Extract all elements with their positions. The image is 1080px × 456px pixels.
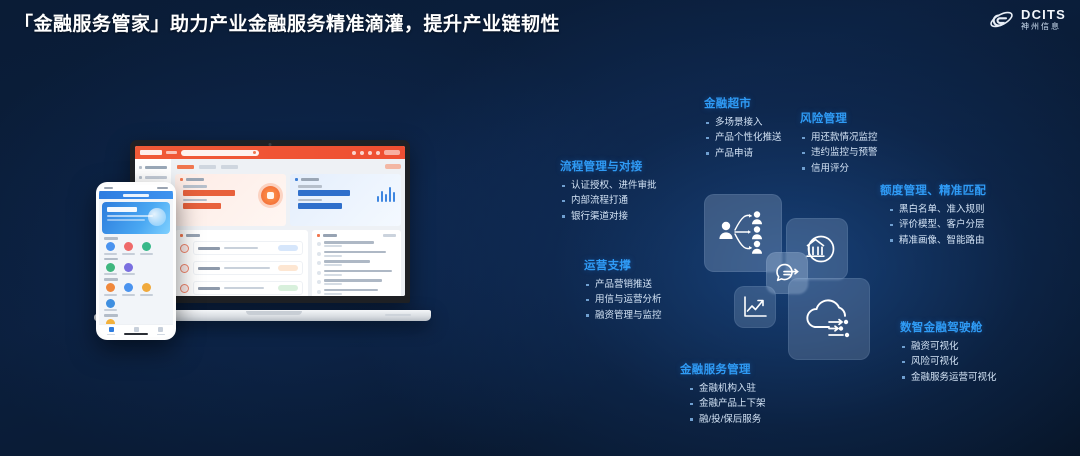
list-item[interactable] xyxy=(317,270,396,276)
app-entry[interactable] xyxy=(139,283,154,296)
list-item: 用还款情况监控 xyxy=(800,130,878,145)
sidebar-item-business[interactable] xyxy=(139,176,167,179)
phone-section-3 xyxy=(103,278,169,311)
block-list: 金融机构入驻 金融产品上下架 融/投/保后服务 xyxy=(680,381,766,427)
tab-order[interactable] xyxy=(221,165,238,169)
block-title: 流程管理与对接 xyxy=(560,158,657,174)
timeline-row[interactable] xyxy=(180,261,303,275)
dashboard-tabs xyxy=(175,162,401,171)
list-item: 精准画像、智能路由 xyxy=(888,233,986,248)
timeline-row[interactable] xyxy=(180,281,303,295)
app-entry[interactable] xyxy=(103,299,118,312)
slide-canvas: 「金融服务管家」助力产业金融服务精准滴灌，提升产业链韧性 DCITS 神州信息 xyxy=(0,0,1080,456)
phone-tabbar xyxy=(99,324,173,337)
tab-product[interactable] xyxy=(199,165,216,169)
app-entry[interactable] xyxy=(121,263,136,276)
list-item: 认证授权、进件审批 xyxy=(560,178,657,193)
app-entry[interactable] xyxy=(103,283,118,296)
block-list: 认证授权、进件审批 内部流程打通 银行渠道对接 xyxy=(560,178,657,224)
block-title: 风险管理 xyxy=(800,110,878,126)
list-item[interactable] xyxy=(317,289,396,295)
tile-cloud-platform xyxy=(788,278,870,360)
tab-home[interactable] xyxy=(99,325,124,337)
list-item: 多场景接入 xyxy=(704,115,782,130)
tab-mine[interactable] xyxy=(148,325,173,337)
list-item[interactable] xyxy=(317,279,396,285)
block-financial-supermarket: 金融超市 多场景接入 产品个性化推送 产品申请 xyxy=(704,95,782,161)
header: 「金融服务管家」助力产业金融服务精准滴灌，提升产业链韧性 DCITS 神州信息 xyxy=(0,0,1080,47)
app-entry[interactable] xyxy=(121,242,136,255)
app-entry[interactable] xyxy=(139,242,154,255)
timeline-row[interactable] xyxy=(180,241,303,255)
list-item: 金融机构入驻 xyxy=(688,381,766,396)
device-mockups xyxy=(96,140,456,340)
app-entry[interactable] xyxy=(103,263,118,276)
primary-action-button[interactable] xyxy=(385,164,401,169)
block-list: 多场景接入 产品个性化推送 产品申请 xyxy=(704,115,782,161)
tab-service[interactable] xyxy=(124,325,149,337)
dashboard-panels xyxy=(175,230,401,296)
page-title: 「金融服务管家」助力产业金融服务精准滴灌，提升产业链韧性 xyxy=(14,9,560,36)
list-item: 风险可视化 xyxy=(900,354,997,369)
phone-navbar xyxy=(99,191,173,199)
block-risk-management: 风险管理 用还款情况监控 违约监控与预警 信用评分 xyxy=(800,110,878,176)
process-timeline-panel xyxy=(175,230,308,296)
dashboard-menu xyxy=(166,151,177,154)
growth-chart-icon xyxy=(741,294,769,320)
phone-section-2 xyxy=(103,258,169,276)
list-item: 产品个性化推送 xyxy=(704,130,782,145)
app-entry[interactable] xyxy=(103,242,118,255)
notice-list-panel xyxy=(312,230,401,296)
icon-cluster xyxy=(700,190,890,370)
phone-section-1 xyxy=(103,237,169,255)
list-item[interactable] xyxy=(317,260,396,266)
avatar[interactable] xyxy=(384,150,400,155)
people-network-icon xyxy=(716,208,770,258)
dashboard-main xyxy=(171,159,405,296)
phone-banner xyxy=(102,202,170,234)
swirl-galaxy-icon xyxy=(988,6,1015,33)
list-item: 产品申请 xyxy=(704,146,782,161)
block-financial-service-management: 金融服务管理 金融机构入驻 金融产品上下架 融/投/保后服务 xyxy=(680,361,766,427)
bar-chart-graphic xyxy=(377,186,396,202)
dashboard-topbar xyxy=(135,146,405,159)
block-operation-support: 运营支撑 产品营销推送 用信与运营分析 融资管理与监控 xyxy=(584,257,662,323)
block-list: 用还款情况监控 违约监控与预警 信用评分 xyxy=(800,130,878,176)
list-item: 银行渠道对接 xyxy=(560,209,657,224)
gear-icon[interactable] xyxy=(376,151,380,155)
stat-card-credit xyxy=(290,174,401,226)
dashboard-logo xyxy=(140,150,162,155)
block-title: 数智金融驾驶舱 xyxy=(900,319,997,335)
tile-data-analysis xyxy=(734,286,776,328)
bell-icon[interactable] xyxy=(352,151,356,155)
list-item: 产品营销推送 xyxy=(584,277,662,292)
stat-card-financing xyxy=(175,174,286,226)
list-item[interactable] xyxy=(317,251,396,257)
help-icon[interactable] xyxy=(360,151,364,155)
block-title: 额度管理、精准匹配 xyxy=(880,182,986,198)
block-title: 金融服务管理 xyxy=(680,361,766,377)
brand-logo: DCITS 神州信息 xyxy=(988,6,1066,33)
sidebar-item-overview[interactable] xyxy=(139,166,167,169)
block-digital-finance-cockpit: 数智金融驾驶舱 融资可视化 风险可视化 金融服务运营可视化 xyxy=(900,319,997,385)
list-item: 黑白名单、准入规则 xyxy=(888,202,986,217)
stat-cards xyxy=(175,174,401,226)
block-list: 融资可视化 风险可视化 金融服务运营可视化 xyxy=(900,339,997,385)
logo-text-en: DCITS xyxy=(1021,8,1066,21)
phone-home-indicator xyxy=(124,333,148,335)
grid-icon[interactable] xyxy=(368,151,372,155)
logo-text-cn: 神州信息 xyxy=(1021,23,1066,31)
block-title: 金融超市 xyxy=(704,95,782,111)
block-process-management: 流程管理与对接 认证授权、进件审批 内部流程打通 银行渠道对接 xyxy=(560,158,657,224)
list-item: 金融服务运营可视化 xyxy=(900,370,997,385)
phone-app-mockup xyxy=(96,182,176,340)
list-item: 金融产品上下架 xyxy=(688,396,766,411)
list-item: 用信与运营分析 xyxy=(584,292,662,307)
list-item: 评价模型、客户分层 xyxy=(888,217,986,232)
block-list: 产品营销推送 用信与运营分析 融资管理与监控 xyxy=(584,277,662,323)
app-entry[interactable] xyxy=(121,283,136,296)
list-item: 内部流程打通 xyxy=(560,193,657,208)
list-item: 违约监控与预警 xyxy=(800,145,878,160)
list-item[interactable] xyxy=(317,241,396,247)
block-quota-management: 额度管理、精准匹配 黑白名单、准入规则 评价模型、客户分层 精准画像、智能路由 xyxy=(880,182,986,248)
orange-ring-graphic xyxy=(261,186,280,205)
search-input[interactable] xyxy=(181,150,259,156)
tab-overview[interactable] xyxy=(177,165,194,169)
block-list: 黑白名单、准入规则 评价模型、客户分层 精准画像、智能路由 xyxy=(880,202,986,248)
list-item: 融资管理与监控 xyxy=(584,308,662,323)
list-item: 融/投/保后服务 xyxy=(688,412,766,427)
list-item: 融资可视化 xyxy=(900,339,997,354)
phone-screen xyxy=(99,185,173,337)
block-title: 运营支撑 xyxy=(584,257,662,273)
cloud-network-icon xyxy=(801,293,857,345)
list-item: 信用评分 xyxy=(800,161,878,176)
